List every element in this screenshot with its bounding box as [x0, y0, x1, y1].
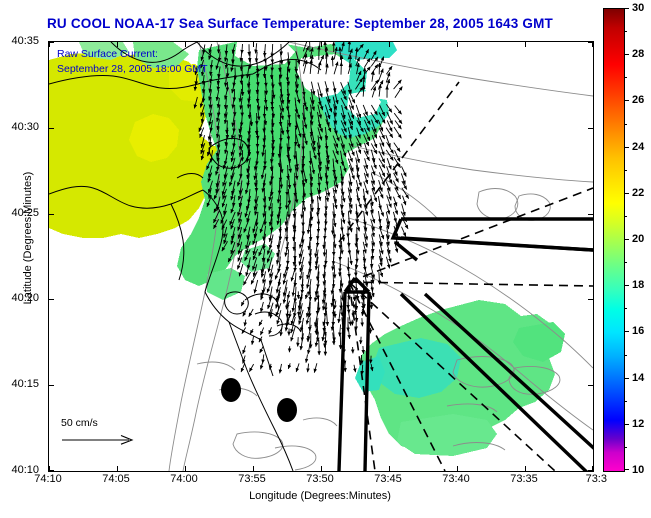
current-vector — [210, 97, 211, 108]
current-vector — [349, 42, 350, 52]
colorbar-tick-mark — [624, 424, 629, 425]
current-vector — [387, 204, 390, 214]
current-vector — [226, 59, 228, 69]
current-vector — [364, 49, 369, 59]
current-vector — [272, 158, 273, 171]
current-vector — [364, 264, 367, 277]
current-vector — [296, 90, 300, 104]
current-vector — [354, 292, 355, 301]
current-vector — [288, 363, 290, 369]
current-vector — [378, 188, 383, 198]
current-vector — [362, 310, 363, 316]
current-vector — [298, 337, 299, 346]
colorbar-tick-mark — [624, 378, 629, 379]
current-vector — [238, 257, 242, 269]
current-vector — [287, 256, 288, 271]
current-vector — [293, 280, 295, 297]
current-vector — [241, 364, 245, 372]
current-vector — [249, 364, 253, 372]
current-vector — [216, 59, 219, 70]
current-vector — [259, 320, 262, 326]
current-vector — [364, 58, 370, 67]
current-vector — [334, 47, 337, 59]
current-vector — [364, 165, 369, 177]
current-vector — [308, 218, 310, 234]
current-vector — [357, 287, 358, 300]
colorbar-tick-mark — [624, 469, 629, 470]
figure-title: RU COOL NOAA-17 Sea Surface Temperature:… — [0, 16, 600, 31]
current-vector — [222, 195, 226, 207]
y-tick-label: 40:10 — [11, 464, 39, 476]
current-vector — [310, 151, 311, 165]
current-vector — [246, 264, 249, 276]
x-tick-mark-top — [457, 42, 458, 47]
current-vector — [341, 288, 343, 302]
current-vector — [354, 365, 356, 372]
current-vector — [394, 226, 398, 237]
current-vector — [252, 337, 254, 345]
current-vector — [395, 87, 402, 98]
current-vector — [394, 218, 398, 228]
current-vector — [333, 136, 338, 148]
y-tick-mark — [49, 470, 54, 471]
colorbar-tick-label: 26 — [632, 94, 644, 106]
current-vector — [387, 158, 391, 169]
current-vector — [291, 326, 295, 341]
y-tick-mark — [49, 128, 54, 129]
current-vector — [249, 104, 250, 118]
current-vector — [332, 295, 333, 307]
current-vector — [341, 120, 346, 132]
current-vector — [243, 356, 246, 364]
current-vector — [357, 63, 359, 74]
current-vector — [342, 42, 344, 52]
current-vector — [395, 106, 402, 115]
colorbar-tick-label: 16 — [632, 325, 644, 337]
colorbar-tick-mark — [624, 54, 629, 55]
colorbar-tick-label: 20 — [632, 233, 644, 245]
current-vector — [394, 127, 401, 138]
current-vector — [356, 105, 360, 118]
current-vector — [357, 128, 361, 139]
colorbar-tick-mark — [624, 239, 629, 240]
current-vector — [365, 67, 371, 74]
current-vector — [201, 105, 205, 117]
current-vector — [310, 211, 311, 227]
colorbar-minor-tick — [624, 77, 627, 78]
current-vector — [243, 311, 246, 316]
colorbar-tick-label: 18 — [632, 279, 644, 291]
current-vector — [250, 329, 253, 334]
current-vector — [402, 227, 406, 237]
x-tick-mark-top — [525, 42, 526, 47]
current-vector — [319, 181, 320, 194]
colorbar-minor-tick — [624, 124, 627, 125]
current-vector — [314, 363, 317, 372]
current-vector — [270, 364, 271, 370]
colorbar-minor-tick — [624, 262, 627, 263]
y-tick-mark — [49, 42, 54, 43]
current-vector — [394, 157, 401, 167]
current-vector — [341, 302, 342, 316]
current-vector — [263, 143, 265, 156]
current-vector — [348, 90, 355, 103]
colorbar-minor-tick — [624, 308, 627, 309]
current-vector — [356, 257, 357, 269]
colorbar-minor-tick — [624, 216, 627, 217]
current-vector — [233, 97, 234, 108]
current-vector — [394, 80, 402, 89]
x-axis-label: Longitude (Degrees:Minutes) — [48, 490, 592, 502]
current-vector — [269, 327, 272, 334]
current-vector — [326, 211, 327, 225]
vector-scale-label: 50 cm/s — [61, 417, 139, 429]
current-vector — [306, 354, 308, 362]
vector-scale-legend: 50 cm/s — [61, 417, 139, 447]
current-vector — [379, 151, 385, 163]
current-vector — [296, 188, 298, 203]
annotation-line-1: Raw Surface Current: — [57, 47, 208, 62]
current-vector — [371, 364, 372, 371]
current-vector — [339, 309, 341, 323]
current-vector — [364, 68, 365, 82]
current-vector — [334, 265, 335, 278]
current-vector — [194, 97, 197, 108]
current-vector — [386, 257, 389, 269]
current-vector — [261, 328, 264, 336]
current-vector — [394, 113, 402, 124]
current-vector — [342, 105, 345, 119]
current-vector — [223, 158, 226, 169]
colorbar-tick-label: 10 — [632, 464, 644, 476]
current-vector — [394, 173, 399, 182]
current-vector — [403, 196, 406, 205]
current-vector — [278, 188, 280, 204]
current-vector — [232, 128, 235, 139]
current-vector — [325, 42, 326, 52]
current-vector — [230, 212, 235, 225]
current-vector — [281, 173, 282, 188]
current-vector — [348, 325, 350, 339]
current-vector — [259, 337, 262, 343]
current-vector — [288, 136, 289, 151]
current-vector — [280, 364, 282, 373]
colorbar-ticks: 3028262422201816141210 — [603, 8, 637, 470]
current-vector — [296, 158, 297, 172]
current-vector — [371, 51, 376, 60]
current-vector — [240, 89, 242, 102]
vector-scale-arrow-icon — [61, 433, 139, 447]
current-vector — [326, 311, 327, 326]
x-tick-label: 73:55 — [238, 473, 266, 485]
y-tick-mark-right — [588, 385, 593, 386]
current-vector — [315, 287, 318, 302]
current-vector — [308, 341, 310, 354]
current-vector — [281, 44, 282, 55]
current-vector — [225, 75, 226, 87]
x-tick-label: 73:50 — [306, 473, 334, 485]
current-vector — [345, 364, 346, 372]
current-vector — [379, 204, 383, 217]
y-tick-mark-right — [588, 470, 593, 471]
current-vector — [241, 301, 244, 307]
current-vector — [294, 203, 295, 218]
current-vector — [342, 196, 343, 209]
colorbar-tick-label: 12 — [632, 418, 644, 430]
annotation-line-2: September 28, 2005 18:00 GMT — [57, 62, 208, 77]
current-vector — [295, 67, 298, 80]
current-vector — [356, 48, 357, 60]
current-vector — [371, 105, 377, 115]
current-vector — [333, 257, 334, 271]
x-tick-label: 73:3 — [586, 473, 607, 485]
current-vector — [371, 356, 372, 364]
x-tick-mark-top — [389, 42, 390, 47]
current-vector — [379, 57, 383, 68]
current-vector — [245, 249, 251, 261]
current-vector — [348, 311, 351, 326]
current-vector — [343, 319, 344, 327]
current-vector — [319, 97, 323, 110]
current-vector — [296, 134, 299, 148]
current-vector — [342, 226, 344, 241]
current-vector — [340, 47, 341, 60]
current-vector — [386, 128, 393, 138]
current-vector — [289, 204, 290, 218]
current-vector — [231, 203, 235, 213]
colorbar-tick-label: 24 — [632, 141, 644, 153]
current-vector — [261, 363, 263, 369]
current-vector — [326, 119, 331, 132]
y-tick-mark — [49, 385, 54, 386]
x-tick-label: 73:35 — [510, 473, 538, 485]
y-tick-mark — [49, 299, 54, 300]
sst-map-figure: RU COOL NOAA-17 Sea Surface Temperature:… — [0, 0, 651, 518]
current-vector — [231, 143, 235, 156]
current-vector — [242, 328, 246, 334]
current-vector — [230, 173, 235, 187]
colorbar-tick-label: 28 — [632, 48, 644, 60]
y-axis-label: Latitude (Degrees:Minutes) — [22, 118, 34, 358]
y-tick-mark — [49, 214, 54, 215]
current-vector — [210, 66, 211, 75]
current-vector — [325, 105, 329, 119]
colorbar-tick-mark — [624, 285, 629, 286]
current-vector — [262, 166, 265, 179]
current-vector — [334, 143, 338, 155]
current-vector — [218, 98, 219, 108]
x-tick-mark — [525, 466, 526, 471]
current-vector — [386, 104, 392, 112]
colorbar-minor-tick — [624, 31, 627, 32]
colorbar-minor-tick — [624, 170, 627, 171]
x-tick-label: 74:00 — [170, 473, 198, 485]
current-vector — [349, 119, 353, 130]
current-vector — [247, 196, 251, 210]
x-tick-mark-top — [253, 42, 254, 47]
current-vector — [370, 292, 372, 299]
current-vector — [341, 241, 342, 254]
current-vector — [334, 62, 338, 74]
current-vector — [247, 66, 249, 78]
current-vector — [344, 293, 345, 302]
current-vector — [353, 301, 354, 308]
current-vector — [216, 165, 219, 175]
current-vector — [195, 82, 196, 91]
current-vector — [395, 242, 398, 253]
current-vector — [356, 57, 360, 66]
current-vector — [349, 250, 351, 265]
colorbar-tick-label: 22 — [632, 187, 644, 199]
current-vector — [356, 87, 363, 97]
x-tick-mark — [185, 466, 186, 471]
current-vector — [244, 219, 249, 233]
current-vector — [238, 249, 242, 261]
x-tick-label: 74:05 — [102, 473, 130, 485]
current-vector — [289, 174, 290, 189]
current-vector — [302, 203, 303, 218]
current-vector — [295, 273, 296, 287]
x-tick-mark — [321, 466, 322, 471]
raw-current-annotation: Raw Surface Current: September 28, 2005 … — [57, 47, 208, 77]
x-tick-mark-top — [321, 42, 322, 47]
x-tick-label: 73:40 — [442, 473, 470, 485]
current-vector — [318, 61, 321, 74]
current-vector — [362, 365, 363, 375]
current-vector — [394, 203, 398, 214]
current-vector — [281, 328, 282, 336]
current-vector — [207, 158, 212, 169]
current-vector — [306, 292, 308, 299]
current-vector — [239, 264, 243, 276]
current-vector — [334, 301, 336, 310]
current-vector — [340, 280, 341, 292]
current-vector — [211, 150, 213, 162]
current-vector — [344, 347, 345, 354]
x-tick-mark — [389, 466, 390, 471]
current-vector — [246, 181, 249, 194]
colorbar-tick-mark — [624, 147, 629, 148]
current-vector — [371, 302, 372, 309]
current-vector — [379, 272, 380, 285]
current-vector — [299, 310, 300, 316]
current-vector — [254, 280, 257, 293]
current-vector — [357, 44, 364, 52]
colorbar-tick-mark — [624, 8, 629, 9]
current-vector — [343, 355, 345, 365]
current-vector — [217, 90, 219, 101]
current-vector — [250, 112, 251, 126]
current-vector — [311, 158, 314, 174]
current-vector — [222, 182, 226, 196]
current-vector — [243, 346, 246, 354]
colorbar-tick-label: 30 — [632, 2, 644, 14]
colorbar-tick-mark — [624, 193, 629, 194]
y-tick-mark-right — [588, 299, 593, 300]
colorbar-tick-mark — [624, 331, 629, 332]
current-vector — [355, 78, 362, 89]
current-vector — [279, 75, 280, 87]
current-vector — [357, 195, 361, 208]
y-tick-mark-right — [588, 128, 593, 129]
current-vector — [341, 158, 346, 172]
colorbar-minor-tick — [624, 355, 627, 356]
current-vector — [378, 120, 383, 131]
current-vector — [241, 51, 242, 62]
current-vector — [362, 318, 363, 326]
current-vector — [263, 354, 264, 363]
colorbar-tick-label: 14 — [632, 372, 644, 384]
y-tick-mark-right — [588, 214, 593, 215]
current-vector — [279, 144, 280, 158]
y-tick-mark-right — [588, 42, 593, 43]
current-vector — [363, 346, 364, 354]
colorbar-minor-tick — [624, 401, 627, 402]
current-vector — [257, 151, 258, 165]
current-vector — [289, 311, 290, 318]
x-tick-mark — [117, 466, 118, 471]
current-vector — [308, 364, 309, 373]
current-vector — [371, 64, 378, 74]
current-vector — [249, 309, 253, 317]
x-tick-mark — [457, 466, 458, 471]
current-vector — [288, 189, 289, 204]
y-tick-label: 40:15 — [11, 378, 39, 390]
colorbar-tick-mark — [624, 100, 629, 101]
current-vector — [296, 363, 299, 372]
current-vector — [260, 346, 264, 353]
current-vector — [245, 320, 246, 327]
map-plot-area[interactable]: Raw Surface Current: September 28, 2005 … — [48, 41, 594, 472]
current-vector — [261, 302, 264, 312]
surface-current-vector-layer — [49, 42, 593, 471]
current-vector — [361, 355, 362, 364]
current-vector — [371, 166, 375, 176]
current-vector — [310, 42, 311, 52]
colorbar-minor-tick — [624, 447, 627, 448]
current-vector — [201, 143, 205, 154]
current-vector — [361, 337, 362, 344]
x-tick-mark — [253, 466, 254, 471]
current-vector — [288, 165, 289, 180]
x-tick-label: 73:45 — [374, 473, 402, 485]
current-vector — [242, 66, 243, 78]
x-tick-labels: 74:1074:0574:0073:5573:5073:4573:4073:35… — [48, 473, 592, 489]
current-vector — [222, 241, 228, 251]
current-vector — [332, 56, 333, 66]
y-tick-label: 40:35 — [11, 35, 39, 47]
current-vector — [256, 43, 257, 53]
current-vector — [357, 227, 358, 242]
